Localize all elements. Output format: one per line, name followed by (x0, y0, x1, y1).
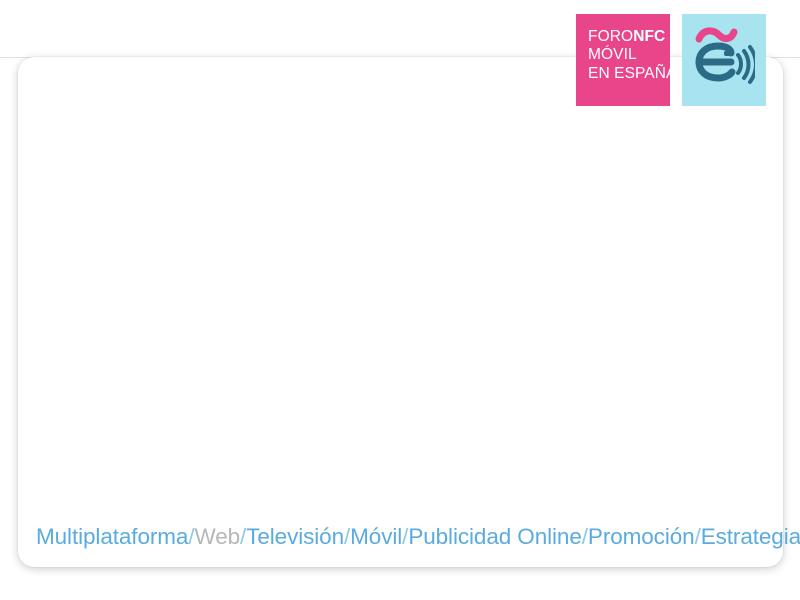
footer-segment[interactable]: Estrategia (701, 524, 800, 549)
footer-segment[interactable]: Móvil (350, 524, 402, 549)
logo-foro-text: FORO (588, 28, 633, 45)
logo-line-2: MÓVIL (588, 46, 670, 64)
content-card (18, 57, 783, 567)
logo-line-3: EN ESPAÑA (588, 65, 670, 83)
foronfc-logo[interactable]: FORONFC MÓVIL EN ESPAÑA (576, 14, 766, 110)
foronfc-e-wifi-icon (693, 25, 755, 95)
logo-mark-tile (682, 14, 766, 106)
footer-segment[interactable]: Televisión (246, 524, 344, 549)
footer-segment[interactable]: Multiplataforma (36, 524, 188, 549)
footer-tagline: Multiplataforma/Web/Televisión/Móvil/Pub… (36, 524, 800, 550)
logo-line-1: FORONFC (588, 28, 670, 46)
footer-segment[interactable]: Publicidad Online (408, 524, 581, 549)
logo-text-tile: FORONFC MÓVIL EN ESPAÑA (576, 14, 670, 106)
logo-nfc-text: NFC (633, 28, 665, 45)
footer-segment[interactable]: Promoción (588, 524, 695, 549)
slide-root: FORONFC MÓVIL EN ESPAÑA Titular Apartado… (0, 0, 800, 600)
footer-segment[interactable]: Web (194, 524, 240, 549)
